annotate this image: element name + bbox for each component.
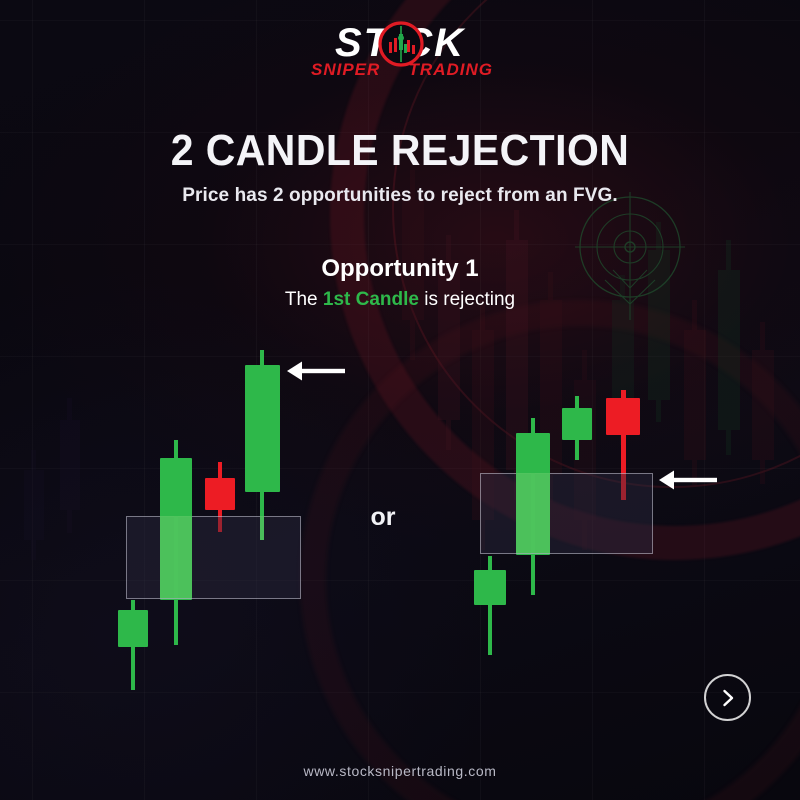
fvg-box	[481, 474, 653, 554]
candle-1-bullish	[474, 556, 506, 655]
slide-root: ST CK SNIPER TRADING	[0, 0, 800, 800]
chevron-right-icon	[718, 688, 738, 708]
candle-3-bullish	[562, 396, 592, 460]
next-slide-button[interactable]	[704, 674, 751, 721]
candle-body	[474, 570, 506, 605]
fvg-overlap-wick-highlight	[174, 516, 178, 598]
candle-4-bullish	[245, 350, 280, 540]
pointer-arrow-left-example	[287, 362, 345, 381]
arrow-head	[287, 362, 302, 381]
arrow-shaft	[300, 369, 345, 373]
candle-body	[118, 610, 148, 647]
footer-website: www.stocksnipertrading.com	[0, 763, 800, 779]
fvg-overlap-wick-highlight	[260, 516, 264, 540]
candlestick-diagram	[0, 0, 800, 800]
candle-body	[606, 398, 640, 435]
pointer-arrow-right-example	[659, 471, 717, 490]
candle-body	[205, 478, 235, 510]
arrow-head	[659, 471, 674, 490]
candle-body	[245, 365, 280, 492]
arrow-shaft	[672, 478, 717, 482]
candle-body	[562, 408, 592, 440]
fvg-box	[127, 517, 301, 599]
fvg-overlap-wick-highlight	[531, 473, 535, 553]
candle-1-bullish	[118, 600, 148, 690]
chart-panel-right-example	[474, 390, 717, 655]
chart-panel-left-example	[118, 350, 345, 690]
